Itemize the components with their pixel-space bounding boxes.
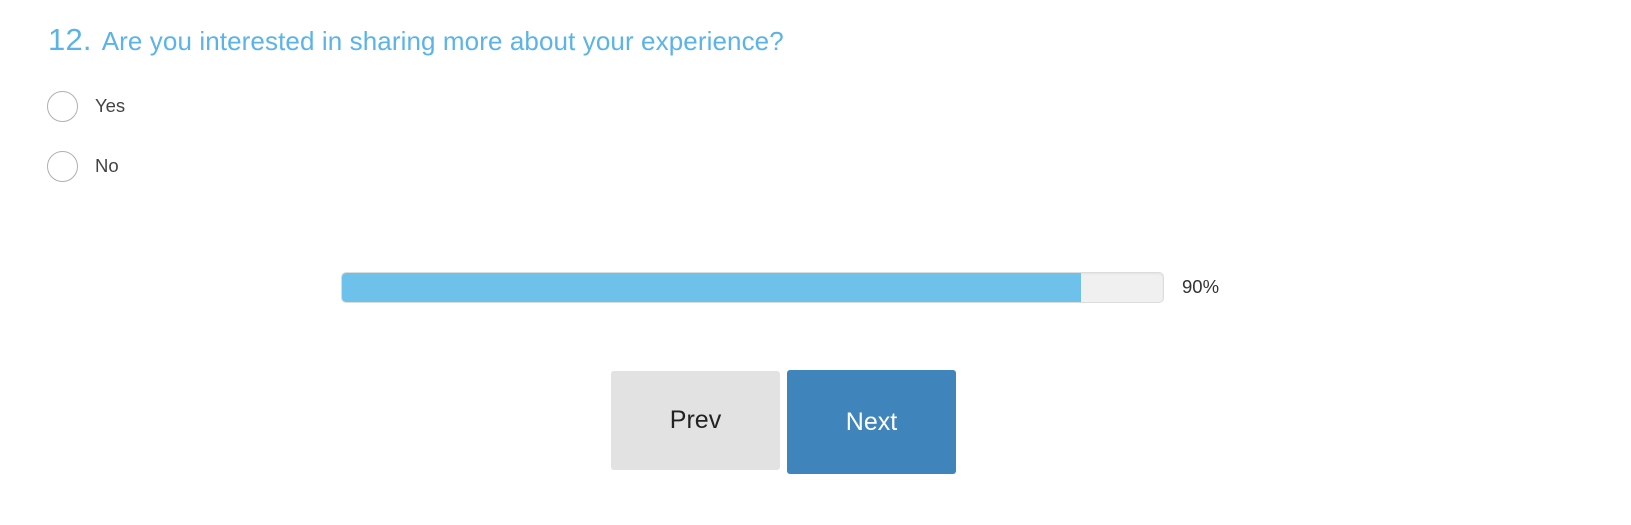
question-heading: 12. Are you interested in sharing more a… [48,22,784,58]
progress-percent-label: 90% [1182,278,1219,297]
next-button[interactable]: Next [787,370,956,474]
option-label-no: No [95,157,119,176]
option-label-yes: Yes [95,97,125,116]
progress-track [341,272,1164,303]
radio-button-yes[interactable] [47,91,78,122]
prev-button[interactable]: Prev [611,371,780,470]
question-text: Are you interested in sharing more about… [102,26,784,57]
navigation-buttons: Prev Next [611,370,956,474]
question-number: 12. [48,22,92,58]
radio-button-no[interactable] [47,151,78,182]
progress-fill [342,273,1081,302]
option-row-no[interactable]: No [47,148,125,184]
progress-bar-container: 90% [341,272,1219,303]
option-row-yes[interactable]: Yes [47,88,125,124]
survey-page: 12. Are you interested in sharing more a… [0,0,1631,525]
answer-options: Yes No [47,88,125,208]
